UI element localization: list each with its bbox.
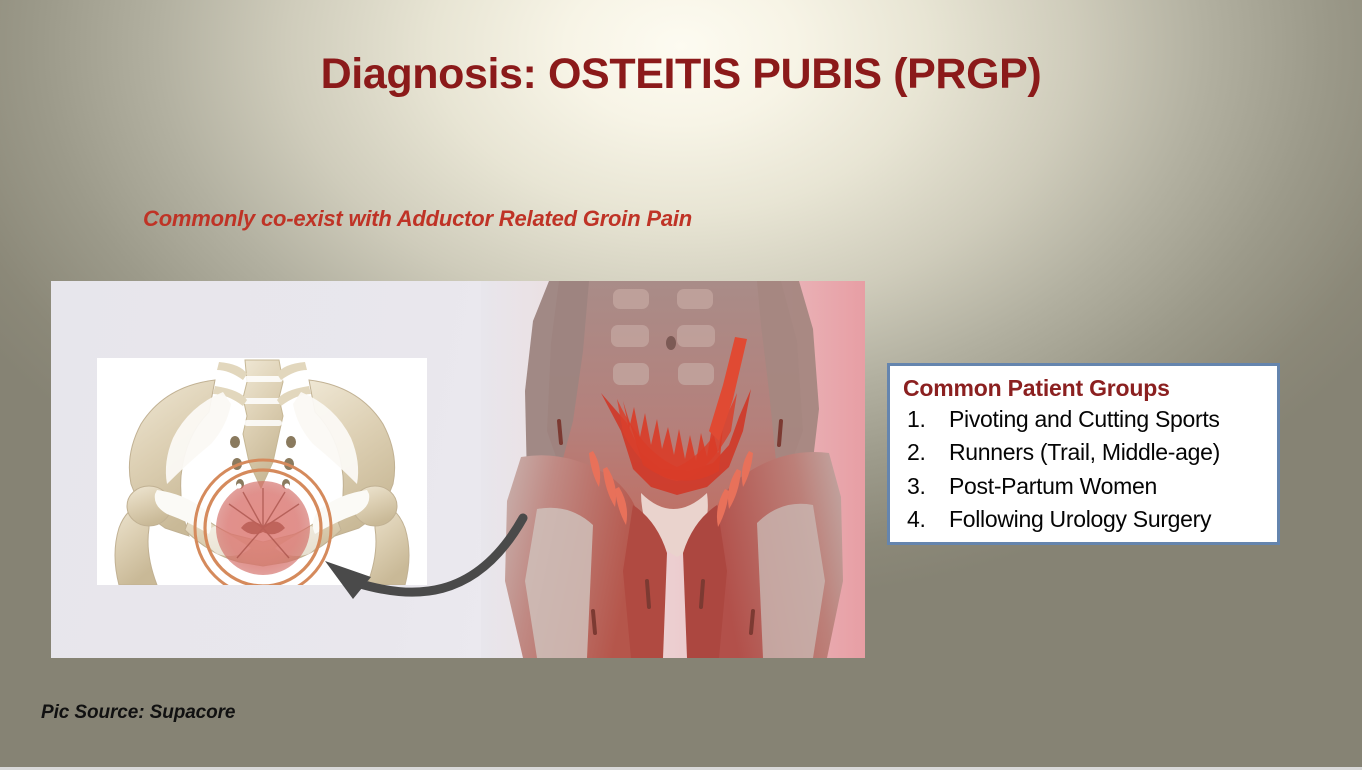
groups-heading: Common Patient Groups <box>903 375 1277 402</box>
list-item-label: Following Urology Surgery <box>949 503 1211 536</box>
list-item: 1. Pivoting and Cutting Sports <box>903 403 1277 436</box>
list-item-number: 1. <box>903 403 949 436</box>
figure-panel <box>51 281 865 658</box>
pelvis-skeleton-illustration <box>97 358 427 585</box>
page-title: Diagnosis: OSTEITIS PUBIS (PRGP) <box>0 50 1362 98</box>
list-item-number: 2. <box>903 436 949 469</box>
slide-canvas: Diagnosis: OSTEITIS PUBIS (PRGP) Commonl… <box>0 0 1362 770</box>
list-item-label: Runners (Trail, Middle-age) <box>949 436 1220 469</box>
list-item: 3. Post-Partum Women <box>903 470 1277 503</box>
list-item-label: Post-Partum Women <box>949 470 1157 503</box>
groin-adductor-muscle-illustration <box>481 281 865 658</box>
common-patient-groups-box: Common Patient Groups 1. Pivoting and Cu… <box>887 363 1280 545</box>
picture-source-credit: Pic Source: Supacore <box>41 702 235 724</box>
subtitle-note: Commonly co-exist with Adductor Related … <box>143 206 692 232</box>
list-item-label: Pivoting and Cutting Sports <box>949 403 1220 436</box>
list-item-number: 4. <box>903 503 949 536</box>
list-item: 2. Runners (Trail, Middle-age) <box>903 436 1277 469</box>
list-item: 4. Following Urology Surgery <box>903 503 1277 536</box>
list-item-number: 3. <box>903 470 949 503</box>
